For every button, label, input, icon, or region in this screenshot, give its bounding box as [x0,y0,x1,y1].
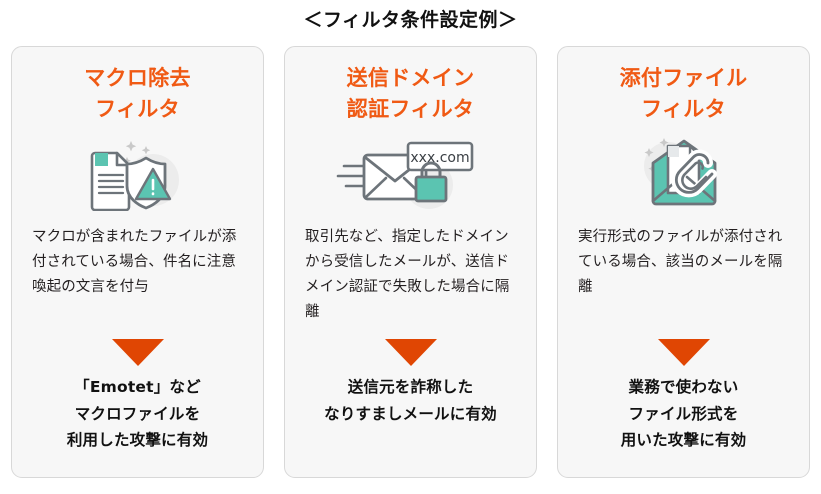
card-footer-attachment-filter: 業務で使わない ファイル形式を 用いた攻撃に有効 [558,374,809,454]
card-body-attachment-filter: 実行形式のファイルが添付されている場合、該当のメールを隔離 [578,225,789,300]
document-shield-warning-icon [63,133,213,211]
card-body-sender-domain-auth-filter: 取引先など、指定したドメインから受信したメールが、送信ドメイン認証で失敗した場合… [305,225,516,325]
card-title-line-1: 添付ファイル [558,63,809,94]
card-footer-line-2: なりすましメールに有効 [285,401,536,428]
card-title-attachment-filter: 添付ファイル フィルタ [558,63,809,125]
envelope-domain-lock-icon: xxx.com [336,133,486,211]
card-footer-line-2: マクロファイルを [12,401,263,428]
card-footer-macro-removal-filter: 「Emotet」など マクロファイルを 利用した攻撃に有効 [12,374,263,454]
card-title-line-1: 送信ドメイン [285,63,536,94]
card-footer-line-1: 業務で使わない [558,374,809,401]
card-footer-line-1: 「Emotet」など [12,374,263,401]
page-title: ＜フィルタ条件設定例＞ [0,6,821,34]
card-footer-line-2: ファイル形式を [558,401,809,428]
card-sender-domain-auth-filter: 送信ドメイン 認証フィルタ xxx.com [284,46,537,478]
filter-cards-row: マクロ除去 フィルタ [11,46,810,480]
card-title-line-2: 認証フィルタ [285,94,536,125]
card-attachment-filter: 添付ファイル フィルタ [557,46,810,478]
card-footer-line-3: 用いた攻撃に有効 [558,427,809,454]
card-title-macro-removal-filter: マクロ除去 フィルタ [12,63,263,125]
down-arrow-icon [112,339,164,366]
icon-domain-label: xxx.com [410,150,469,166]
envelope-attachment-paperclip-icon [609,133,759,211]
card-title-line-1: マクロ除去 [12,63,263,94]
card-footer-line-3: 利用した攻撃に有効 [12,427,263,454]
down-arrow-macro-removal-filter [12,339,263,366]
card-body-macro-removal-filter: マクロが含まれたファイルが添付されている場合、件名に注意喚起の文言を付与 [32,225,243,300]
card-title-sender-domain-auth-filter: 送信ドメイン 認証フィルタ [285,63,536,125]
down-arrow-attachment-filter [558,339,809,366]
card-title-line-2: フィルタ [12,94,263,125]
down-arrow-icon [385,339,437,366]
card-footer-line-1: 送信元を詐称した [285,374,536,401]
down-arrow-icon [658,339,710,366]
card-title-line-2: フィルタ [558,94,809,125]
card-macro-removal-filter: マクロ除去 フィルタ [11,46,264,478]
down-arrow-sender-domain-auth-filter [285,339,536,366]
card-footer-sender-domain-auth-filter: 送信元を詐称した なりすましメールに有効 [285,374,536,427]
